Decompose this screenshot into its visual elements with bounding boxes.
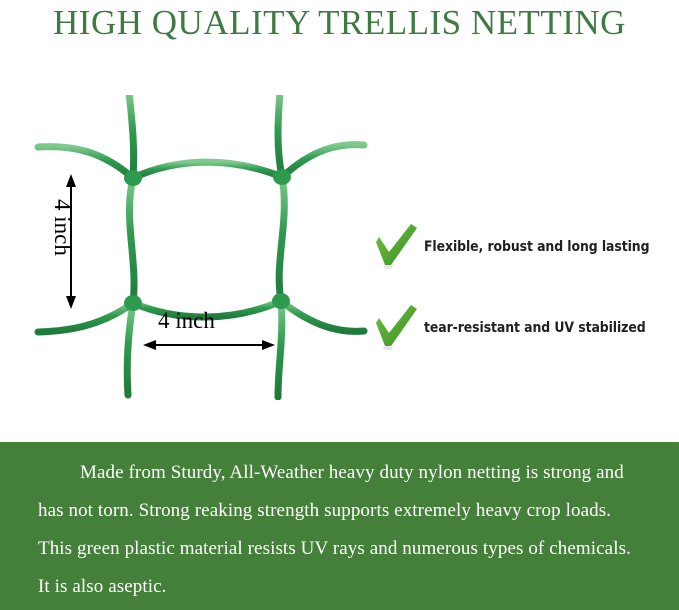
page-title: HIGH QUALITY TRELLIS NETTING xyxy=(0,2,679,44)
vertical-dimension-label: 4 inch xyxy=(49,199,75,295)
description-band: Made from Sturdy, All-Weather heavy duty… xyxy=(0,442,679,610)
horizontal-dimension-arrow xyxy=(143,340,275,350)
feature-label: tear-resistant and UV stabilized xyxy=(424,320,646,336)
horizontal-dimension-label: 4 inch xyxy=(158,308,215,334)
check-icon xyxy=(372,222,420,272)
mesh-ropes xyxy=(38,95,364,397)
feature-label: Flexible, robust and long lasting xyxy=(424,239,649,255)
description-text: Made from Sturdy, All-Weather heavy duty… xyxy=(38,454,646,606)
check-icon xyxy=(372,303,420,353)
product-infographic: HIGH QUALITY TRELLIS NETTING xyxy=(0,0,679,610)
feature-item: Flexible, robust and long lasting xyxy=(372,222,679,272)
mesh-knots xyxy=(124,169,291,311)
feature-item: tear-resistant and UV stabilized xyxy=(372,303,679,353)
trellis-netting-mesh-diagram: 4 inch 4 inch xyxy=(28,95,368,400)
